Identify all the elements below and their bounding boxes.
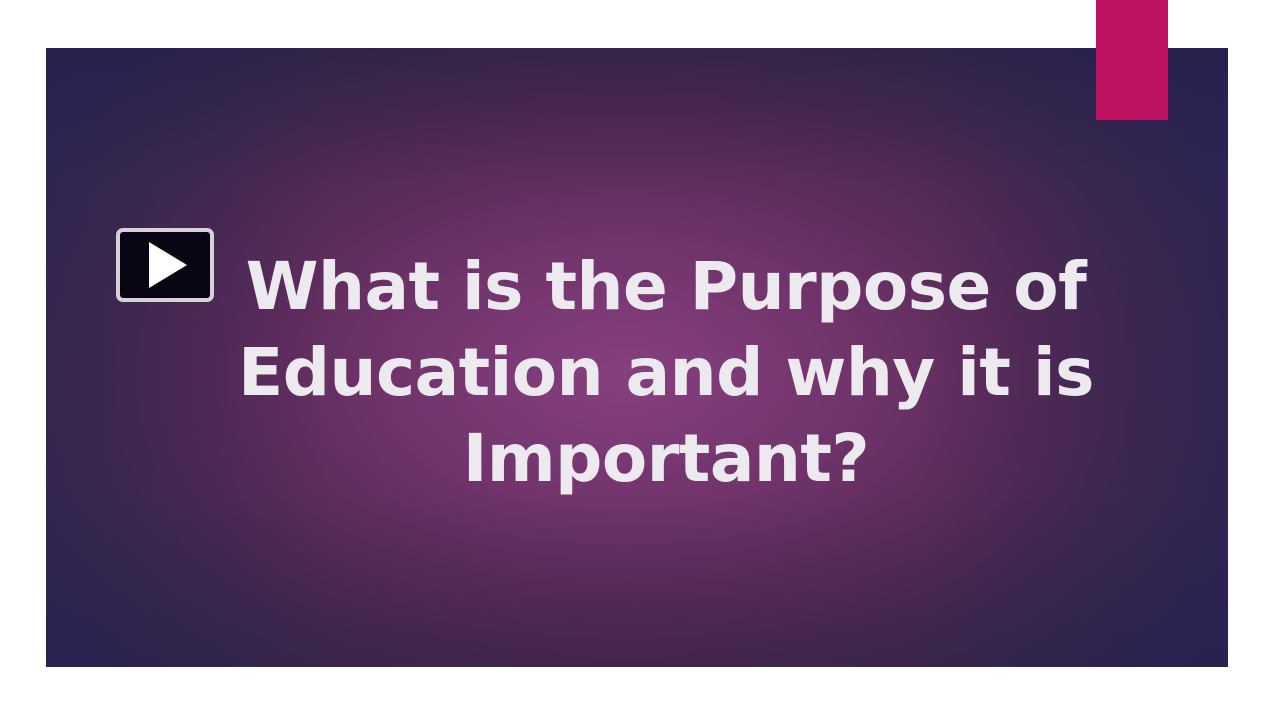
accent-rectangle — [1096, 0, 1168, 120]
play-button[interactable] — [116, 228, 214, 302]
play-icon — [149, 242, 187, 288]
slide-canvas-stage: What is the Purpose of Education and why… — [0, 0, 1280, 720]
slide-title-line-1: What is the Purpose of — [226, 244, 1106, 330]
slide-title-line-2: Education and why it is — [226, 330, 1106, 416]
slide-title: What is the Purpose of Education and why… — [226, 244, 1106, 502]
presentation-slide: What is the Purpose of Education and why… — [46, 48, 1228, 667]
slide-title-line-3: Important? — [226, 416, 1106, 502]
